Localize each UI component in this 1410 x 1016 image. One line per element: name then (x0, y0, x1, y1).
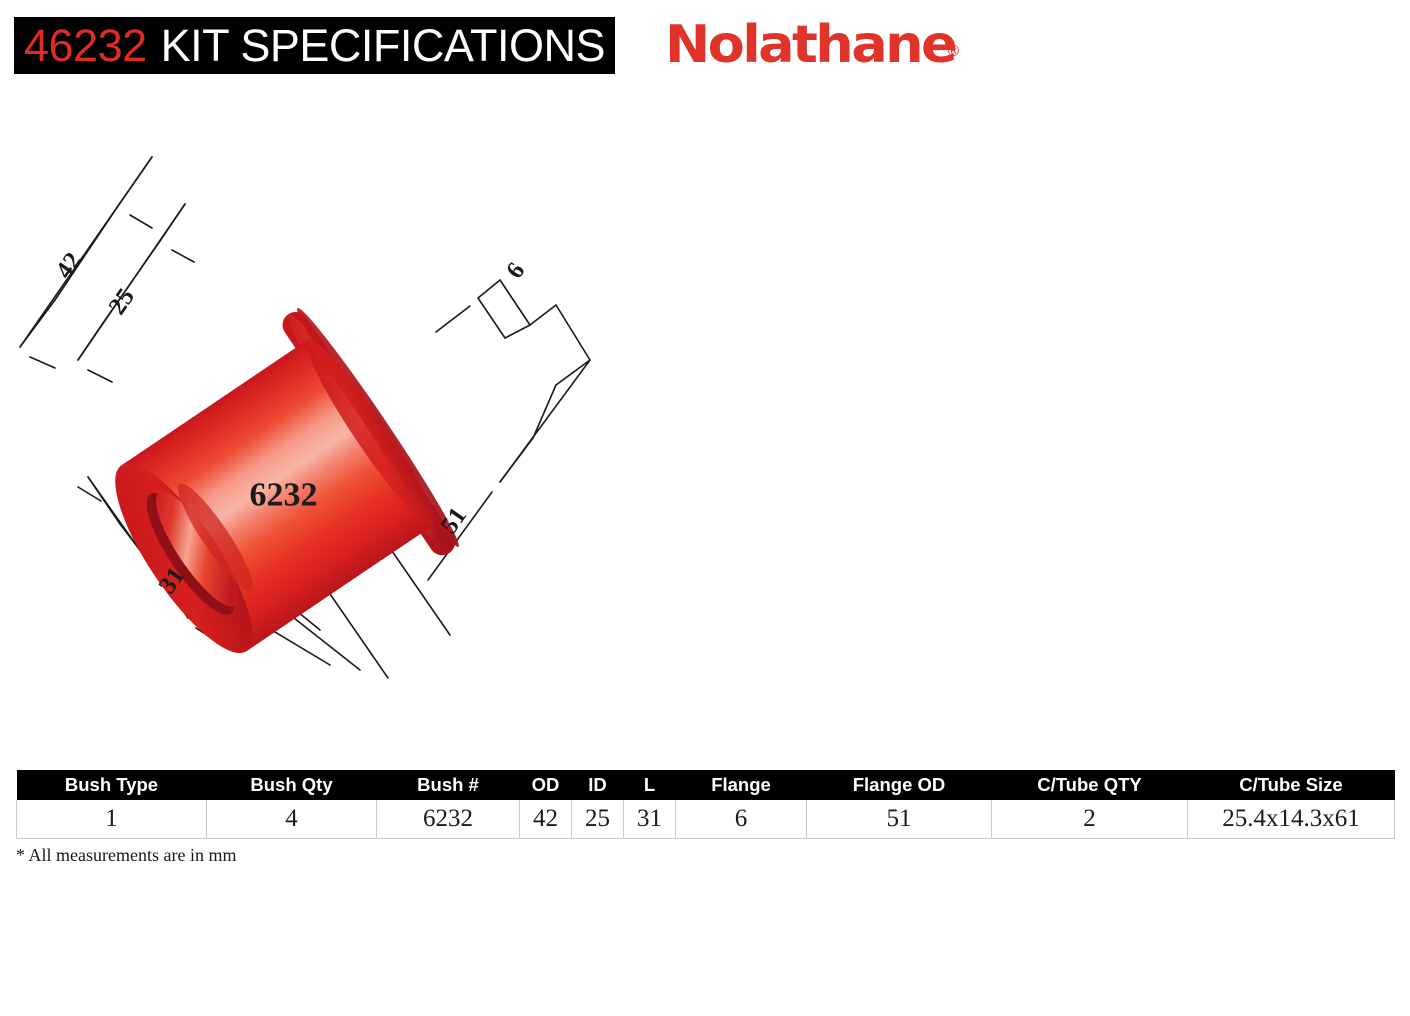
column-header-bush-number: Bush # (377, 770, 520, 800)
dimension-label-42: 42 (51, 248, 87, 284)
part-number-label: 6232 (249, 477, 317, 514)
specifications-table: Bush Type Bush Qty Bush # OD ID L Flange… (16, 770, 1395, 839)
nolathane-logo: Nolathane ® (665, 18, 961, 72)
column-header-id: ID (572, 770, 624, 800)
cell-ctube-qty: 2 (992, 800, 1188, 839)
page-header: 46232 KIT SPECIFICATIONS Nolathane ® (0, 0, 1410, 100)
column-header-l: L (624, 770, 676, 800)
column-header-ctube-qty: C/Tube QTY (992, 770, 1188, 800)
column-header-flange-od: Flange OD (807, 770, 992, 800)
bush-body: 6232 (75, 302, 467, 696)
bush-technical-drawing: 6232 42 25 31 6 51 (0, 110, 700, 730)
cell-flange: 6 (676, 800, 807, 839)
column-header-od: OD (520, 770, 572, 800)
cell-bush-number: 6232 (377, 800, 520, 839)
brand-wordmark: Nolathane (665, 18, 955, 72)
measurement-footnote: * All measurements are in mm (16, 845, 236, 866)
column-header-ctube-size: C/Tube Size (1188, 770, 1395, 800)
table-header-row: Bush Type Bush Qty Bush # OD ID L Flange… (17, 770, 1395, 800)
page-title: KIT SPECIFICATIONS (161, 23, 605, 68)
kit-number: 46232 (24, 23, 147, 68)
cell-l: 31 (624, 800, 676, 839)
cell-bush-qty: 4 (207, 800, 377, 839)
cell-ctube-size: 25.4x14.3x61 (1188, 800, 1395, 839)
title-banner: 46232 KIT SPECIFICATIONS (14, 17, 615, 74)
cell-id: 25 (572, 800, 624, 839)
specifications-table-container: Bush Type Bush Qty Bush # OD ID L Flange… (16, 770, 1394, 839)
dimension-label-6: 6 (501, 258, 530, 284)
column-header-flange: Flange (676, 770, 807, 800)
cell-od: 42 (520, 800, 572, 839)
cell-bush-type: 1 (17, 800, 207, 839)
column-header-bush-type: Bush Type (17, 770, 207, 800)
table-row: 1 4 6232 42 25 31 6 51 2 25.4x14.3x61 (17, 800, 1395, 839)
column-header-bush-qty: Bush Qty (207, 770, 377, 800)
cell-flange-od: 51 (807, 800, 992, 839)
